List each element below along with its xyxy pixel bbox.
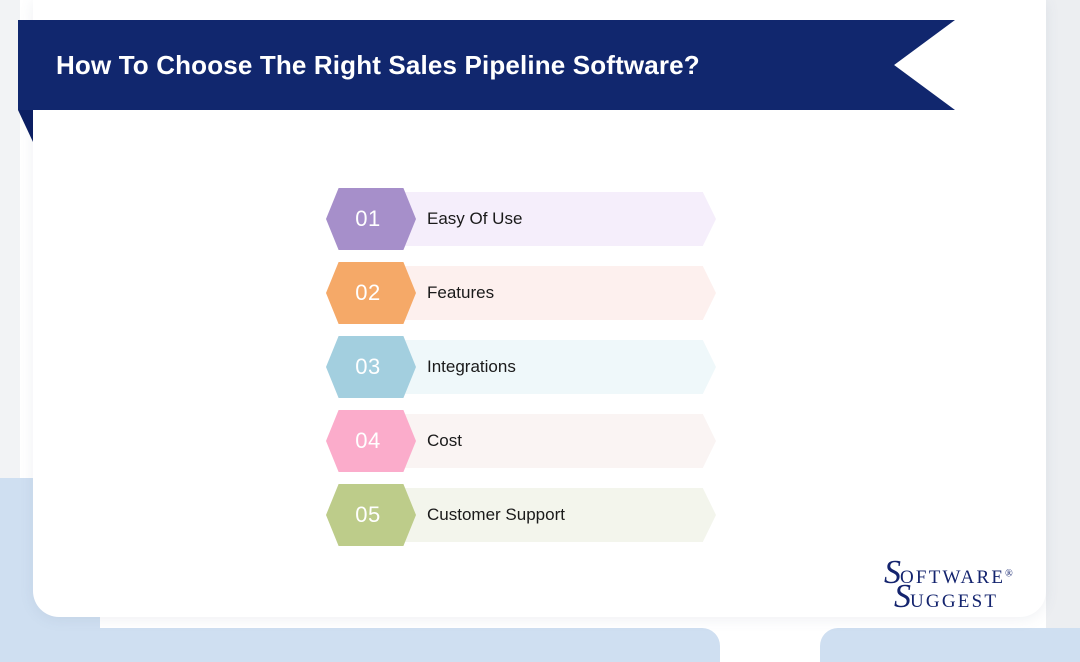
step-number: 03 [355, 354, 380, 380]
step-chevron: 04 [326, 410, 416, 472]
softwaresuggest-logo: SOFTWARE® SUGGEST [884, 556, 1044, 612]
logo-capital-s-bottom: S [894, 578, 910, 615]
list-item: 01 Easy Of Use [326, 188, 726, 250]
step-chevron: 01 [326, 188, 416, 250]
infographic-canvas: How To Choose The Right Sales Pipeline S… [0, 0, 1080, 662]
step-label: Cost [427, 410, 462, 472]
page-title: How To Choose The Right Sales Pipeline S… [56, 20, 700, 110]
step-label: Features [427, 262, 494, 324]
step-number: 02 [355, 280, 380, 306]
step-number: 01 [355, 206, 380, 232]
background-accent-bottom [0, 628, 720, 662]
ribbon-fold-tail [18, 110, 33, 142]
logo-word-suggest: UGGEST [910, 591, 998, 612]
page-left-edge [0, 0, 20, 500]
step-chevron: 03 [326, 336, 416, 398]
logo-line-two: SUGGEST [894, 580, 998, 614]
list-item: 04 Cost [326, 410, 726, 472]
header-ribbon: How To Choose The Right Sales Pipeline S… [18, 20, 955, 110]
step-chevron: 02 [326, 262, 416, 324]
step-label: Easy Of Use [427, 188, 522, 250]
list-item: 02 Features [326, 262, 726, 324]
list-item: 05 Customer Support [326, 484, 726, 546]
list-item: 03 Integrations [326, 336, 726, 398]
registered-icon: ® [1005, 569, 1013, 580]
step-number: 05 [355, 502, 380, 528]
step-label: Customer Support [427, 484, 565, 546]
background-accent-bottom-right [820, 628, 1080, 662]
step-label: Integrations [427, 336, 516, 398]
steps-list: 01 Easy Of Use 02 Features 03 Integratio… [326, 188, 726, 558]
page-right-edge [1046, 0, 1080, 640]
step-number: 04 [355, 428, 380, 454]
step-chevron: 05 [326, 484, 416, 546]
